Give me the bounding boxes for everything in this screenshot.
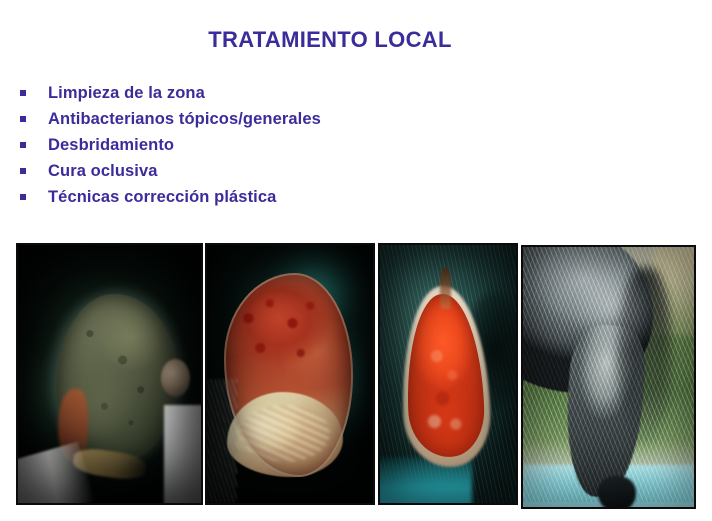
list-item-label: Cura oclusiva — [48, 162, 158, 181]
bullet-list: Limpieza de la zona Antibacterianos tópi… — [18, 84, 538, 214]
list-item-label: Técnicas corrección plástica — [48, 188, 276, 207]
list-item: Técnicas corrección plástica — [18, 188, 538, 214]
list-item: Cura oclusiva — [18, 162, 538, 188]
clinical-photo-necrotic-eschar-wound — [16, 243, 203, 505]
clinical-photo-healed-limb-regrown-fur — [521, 245, 696, 509]
list-item: Antibacterianos tópicos/generales — [18, 110, 538, 136]
list-item: Desbridamiento — [18, 136, 538, 162]
list-item-label: Limpieza de la zona — [48, 84, 205, 103]
page-title: TRATAMIENTO LOCAL — [0, 27, 660, 53]
clinical-photo-debrided-granulating-wound — [205, 243, 375, 505]
list-item: Limpieza de la zona — [18, 84, 538, 110]
list-item-label: Antibacterianos tópicos/generales — [48, 110, 321, 129]
clinical-photo-teardrop-granulating-wound — [378, 243, 518, 505]
list-item-label: Desbridamiento — [48, 136, 174, 155]
